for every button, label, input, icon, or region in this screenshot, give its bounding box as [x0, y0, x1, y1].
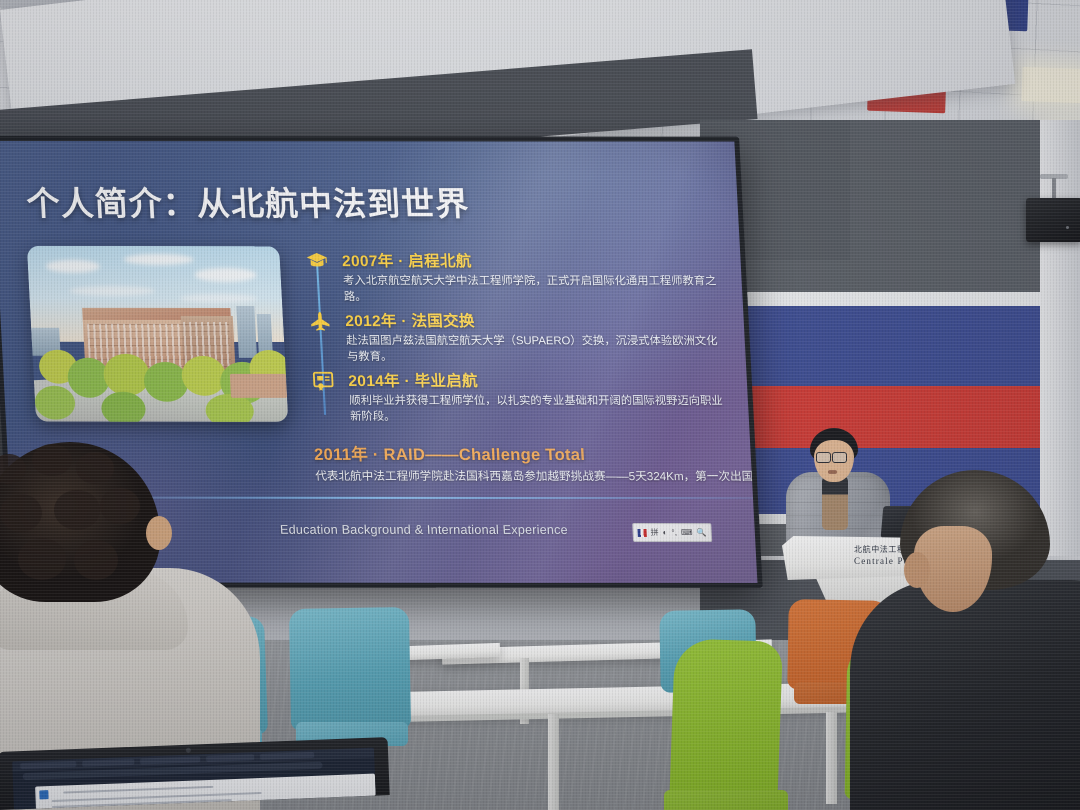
- ceiling-light-2: [1021, 67, 1080, 103]
- chair-back: [289, 607, 411, 731]
- table-leg-3: [548, 714, 559, 810]
- hair-curl-8: [74, 540, 118, 580]
- doc-app-icon: [39, 790, 48, 799]
- hair-curl-6: [100, 488, 140, 524]
- speaker-led: [1066, 226, 1069, 229]
- chair-back: [669, 638, 783, 810]
- wall-band-white: [700, 292, 1040, 306]
- student-right-jacket: [850, 580, 1080, 810]
- speaker-mount: [1052, 178, 1056, 200]
- student-right-ear: [904, 552, 930, 588]
- hair-curl-4: [0, 494, 42, 532]
- lecture-hall-scene: 个人简介：从北航中法到世界: [0, 0, 1080, 810]
- presenter-inner-shirt: [822, 476, 848, 530]
- hair-curl-7: [18, 538, 66, 580]
- hair-curl-3: [76, 452, 114, 484]
- table-leg-4: [826, 712, 837, 804]
- hair-curl-5: [54, 490, 100, 530]
- presenter-glasses-right: [832, 452, 847, 463]
- student-left-ear: [146, 516, 172, 550]
- presenter-mouth: [828, 470, 837, 474]
- loudspeaker: [1026, 198, 1080, 242]
- chair-seat: [664, 790, 788, 810]
- presenter-glasses-left: [816, 452, 831, 463]
- doc-text-line: [63, 786, 213, 794]
- hair-curl-2: [32, 444, 72, 476]
- student-foreground-right: [860, 470, 1080, 810]
